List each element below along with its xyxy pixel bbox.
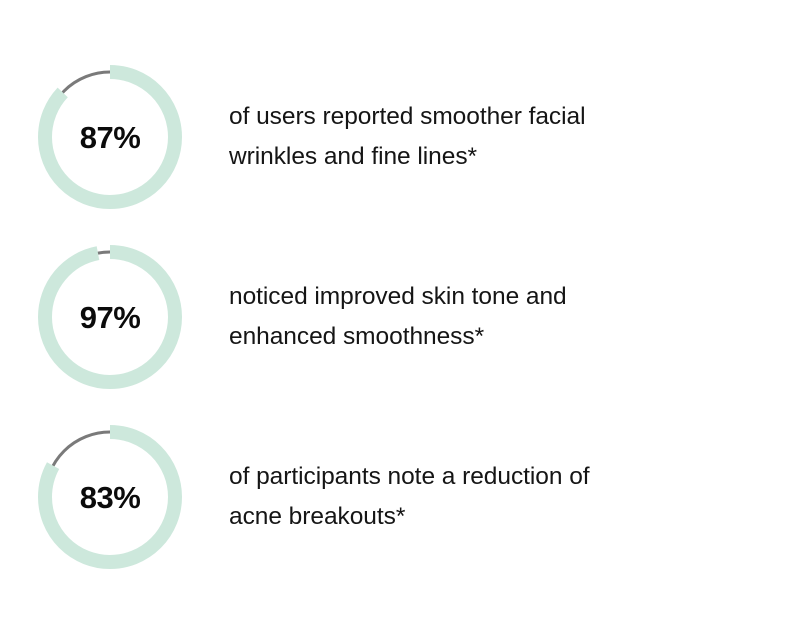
stats-panel: 87% of users reported smoother facial wr… <box>0 0 810 638</box>
stat-description-line: enhanced smoothness* <box>229 317 749 357</box>
stat-description-line: of users reported smoother facial <box>229 97 749 137</box>
donut-gauge-acne: 83% <box>20 407 200 587</box>
stat-description-line: noticed improved skin tone and <box>229 277 749 317</box>
stat-description-line: wrinkles and fine lines* <box>229 137 749 177</box>
stat-description: of users reported smoother facial wrinkl… <box>229 97 749 177</box>
gauge-value-label: 83% <box>20 407 200 587</box>
stat-row: 87% of users reported smoother facial wr… <box>0 47 810 227</box>
stat-description: noticed improved skin tone and enhanced … <box>229 277 749 357</box>
donut-gauge-skin-tone: 97% <box>20 227 200 407</box>
stat-row: 97% noticed improved skin tone and enhan… <box>0 227 810 407</box>
stat-description: of participants note a reduction of acne… <box>229 457 749 537</box>
gauge-value-label: 87% <box>20 47 200 227</box>
stat-description-line: acne breakouts* <box>229 497 749 537</box>
donut-gauge-wrinkles: 87% <box>20 47 200 227</box>
gauge-value-label: 97% <box>20 227 200 407</box>
stat-row: 83% of participants note a reduction of … <box>0 407 810 587</box>
stat-description-line: of participants note a reduction of <box>229 457 749 497</box>
